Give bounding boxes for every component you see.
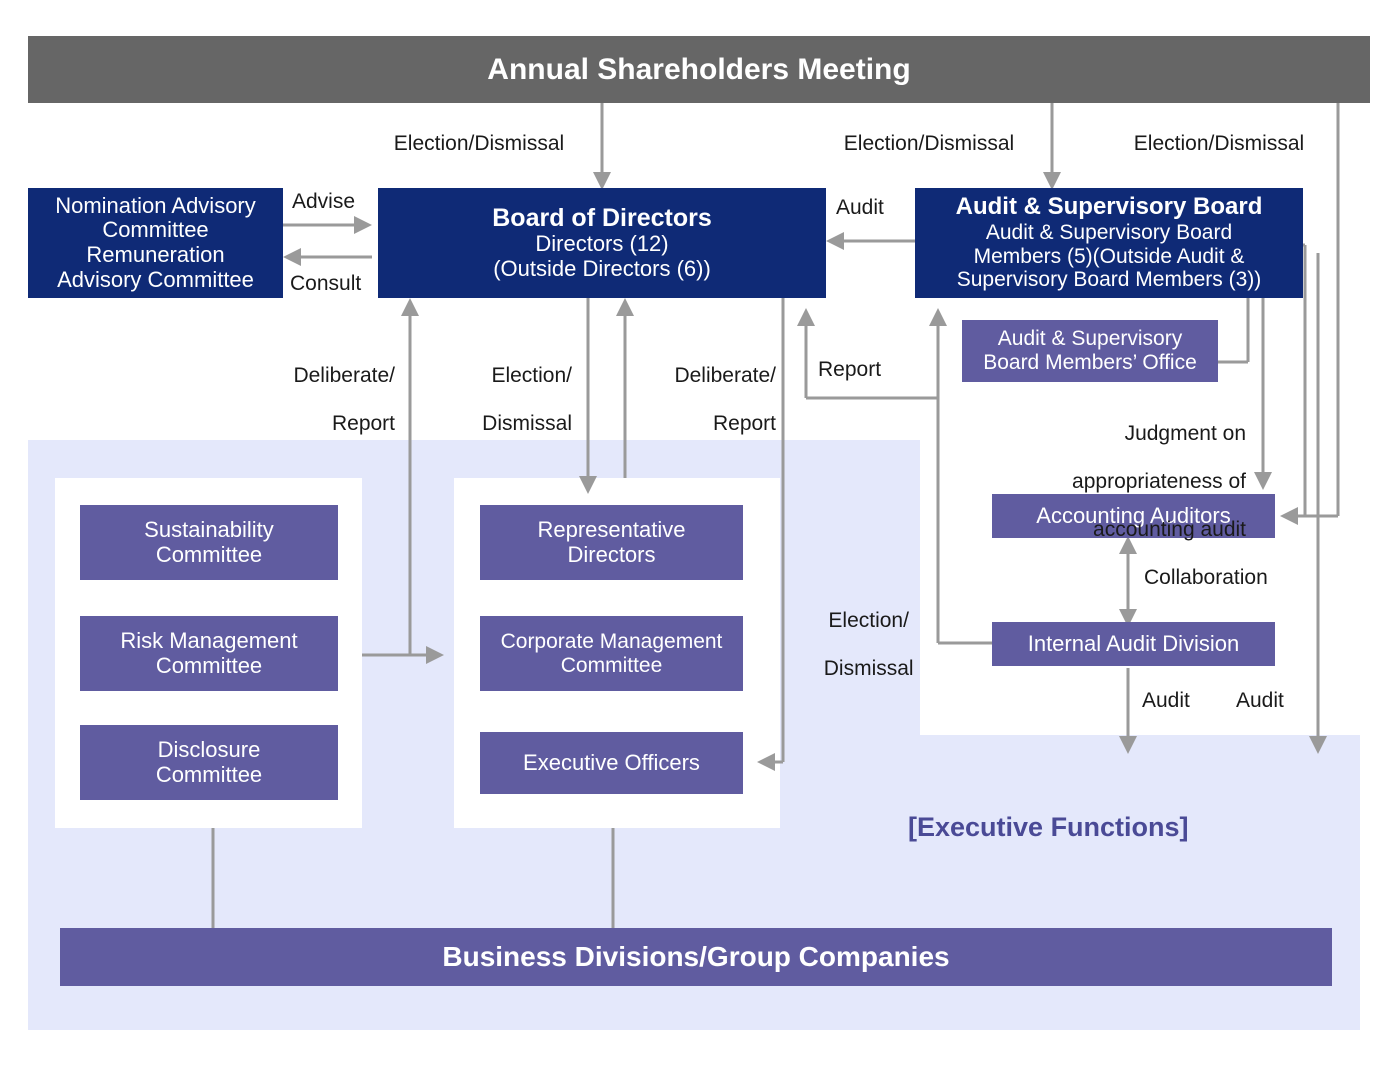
label-election-dismissal-mid-line1: Election/ (491, 364, 572, 387)
corporate-management-committee-line2: Committee (561, 654, 663, 678)
label-election-dismissal-3: Election/Dismissal (1112, 132, 1326, 156)
representative-directors-box[interactable]: Representative Directors (480, 505, 743, 580)
label-deliberate-report-right: Deliberate/ Report (636, 340, 776, 460)
remuneration-committee-line1: Remuneration (86, 243, 224, 268)
nomination-committee-line1: Nomination Advisory (55, 194, 256, 219)
business-divisions-group-companies-box[interactable]: Business Divisions/Group Companies (60, 928, 1332, 986)
label-election-dismissal-mid: Election/ Dismissal (420, 340, 572, 460)
label-judgment-line1: Judgment on (1125, 422, 1246, 445)
sustainability-committee-line2: Committee (156, 543, 262, 568)
label-deliberate-report-right-line1: Deliberate/ (674, 364, 776, 387)
internal-audit-division-box[interactable]: Internal Audit Division (992, 622, 1275, 666)
representative-directors-line2: Directors (567, 543, 655, 568)
corporate-management-committee-box[interactable]: Corporate Management Committee (480, 616, 743, 691)
executive-officers-box[interactable]: Executive Officers (480, 732, 743, 794)
risk-management-committee-box[interactable]: Risk Management Committee (80, 616, 338, 691)
asb-members-office-line1: Audit & Supervisory (998, 327, 1182, 351)
executive-officers-label: Executive Officers (523, 751, 700, 776)
label-deliberate-report-left-line2: Report (332, 412, 395, 435)
label-advise: Advise (292, 190, 355, 214)
label-election-dismissal-mid-line2: Dismissal (482, 412, 572, 435)
label-audit-top: Audit (836, 196, 884, 220)
internal-audit-division-label: Internal Audit Division (1028, 632, 1240, 657)
label-judgment-on-appropriateness: Judgment on appropriateness of accountin… (990, 398, 1246, 566)
governance-diagram: Annual Shareholders Meeting Nomination A… (0, 0, 1400, 1081)
label-election-dismissal-2: Election/Dismissal (822, 132, 1036, 156)
audit-supervisory-board-line3: Members (5)(Outside Audit & (974, 245, 1245, 269)
nomination-remuneration-advisory-committee-box[interactable]: Nomination Advisory Committee Remunerati… (28, 188, 283, 298)
annual-shareholders-meeting-box[interactable]: Annual Shareholders Meeting (28, 36, 1370, 103)
disclosure-committee-box[interactable]: Disclosure Committee (80, 725, 338, 800)
label-deliberate-report-left-line1: Deliberate/ (293, 364, 395, 387)
sustainability-committee-line1: Sustainability (144, 518, 274, 543)
label-deliberate-report-left: Deliberate/ Report (240, 340, 395, 460)
sustainability-committee-box[interactable]: Sustainability Committee (80, 505, 338, 580)
audit-supervisory-board-line4: Supervisory Board Members (3)) (957, 268, 1262, 292)
audit-supervisory-board-line2: Audit & Supervisory Board (986, 221, 1232, 245)
label-audit-left: Audit (1142, 689, 1190, 713)
disclosure-committee-line2: Committee (156, 763, 262, 788)
audit-supervisory-board-box[interactable]: Audit & Supervisory Board Audit & Superv… (915, 188, 1303, 298)
risk-management-committee-line1: Risk Management (120, 629, 297, 654)
label-election-dismissal-exec: Election/ Dismissal (798, 585, 916, 705)
label-election-dismissal-exec-line1: Election/ (828, 609, 909, 632)
representative-directors-line1: Representative (538, 518, 686, 543)
label-deliberate-report-right-line2: Report (713, 412, 776, 435)
label-audit-right: Audit (1236, 689, 1284, 713)
label-consult: Consult (290, 272, 361, 296)
asb-members-office-box[interactable]: Audit & Supervisory Board Members’ Offic… (962, 320, 1218, 382)
asb-members-office-line2: Board Members’ Office (983, 351, 1197, 375)
board-of-directors-outside-count: (Outside Directors (6)) (493, 257, 711, 282)
corporate-management-committee-line1: Corporate Management (501, 630, 723, 654)
risk-management-committee-line2: Committee (156, 654, 262, 679)
nomination-committee-line2: Committee (102, 218, 208, 243)
annual-shareholders-meeting-label: Annual Shareholders Meeting (487, 53, 910, 87)
disclosure-committee-line1: Disclosure (158, 738, 261, 763)
remuneration-committee-line2: Advisory Committee (57, 268, 254, 293)
board-of-directors-box[interactable]: Board of Directors Directors (12) (Outsi… (378, 188, 826, 298)
executive-functions-tag: [Executive Functions] (908, 812, 1189, 843)
audit-supervisory-board-title: Audit & Supervisory Board (956, 194, 1263, 221)
label-report: Report (818, 358, 881, 382)
label-election-dismissal-exec-line2: Dismissal (824, 657, 914, 680)
label-judgment-line2: appropriateness of (1072, 470, 1246, 493)
board-of-directors-count: Directors (12) (535, 232, 668, 257)
business-divisions-label: Business Divisions/Group Companies (442, 941, 949, 972)
board-of-directors-title: Board of Directors (492, 204, 711, 232)
label-election-dismissal-1: Election/Dismissal (372, 132, 586, 156)
label-collaboration: Collaboration (1144, 566, 1268, 590)
label-judgment-line3: accounting audit (1093, 518, 1246, 541)
